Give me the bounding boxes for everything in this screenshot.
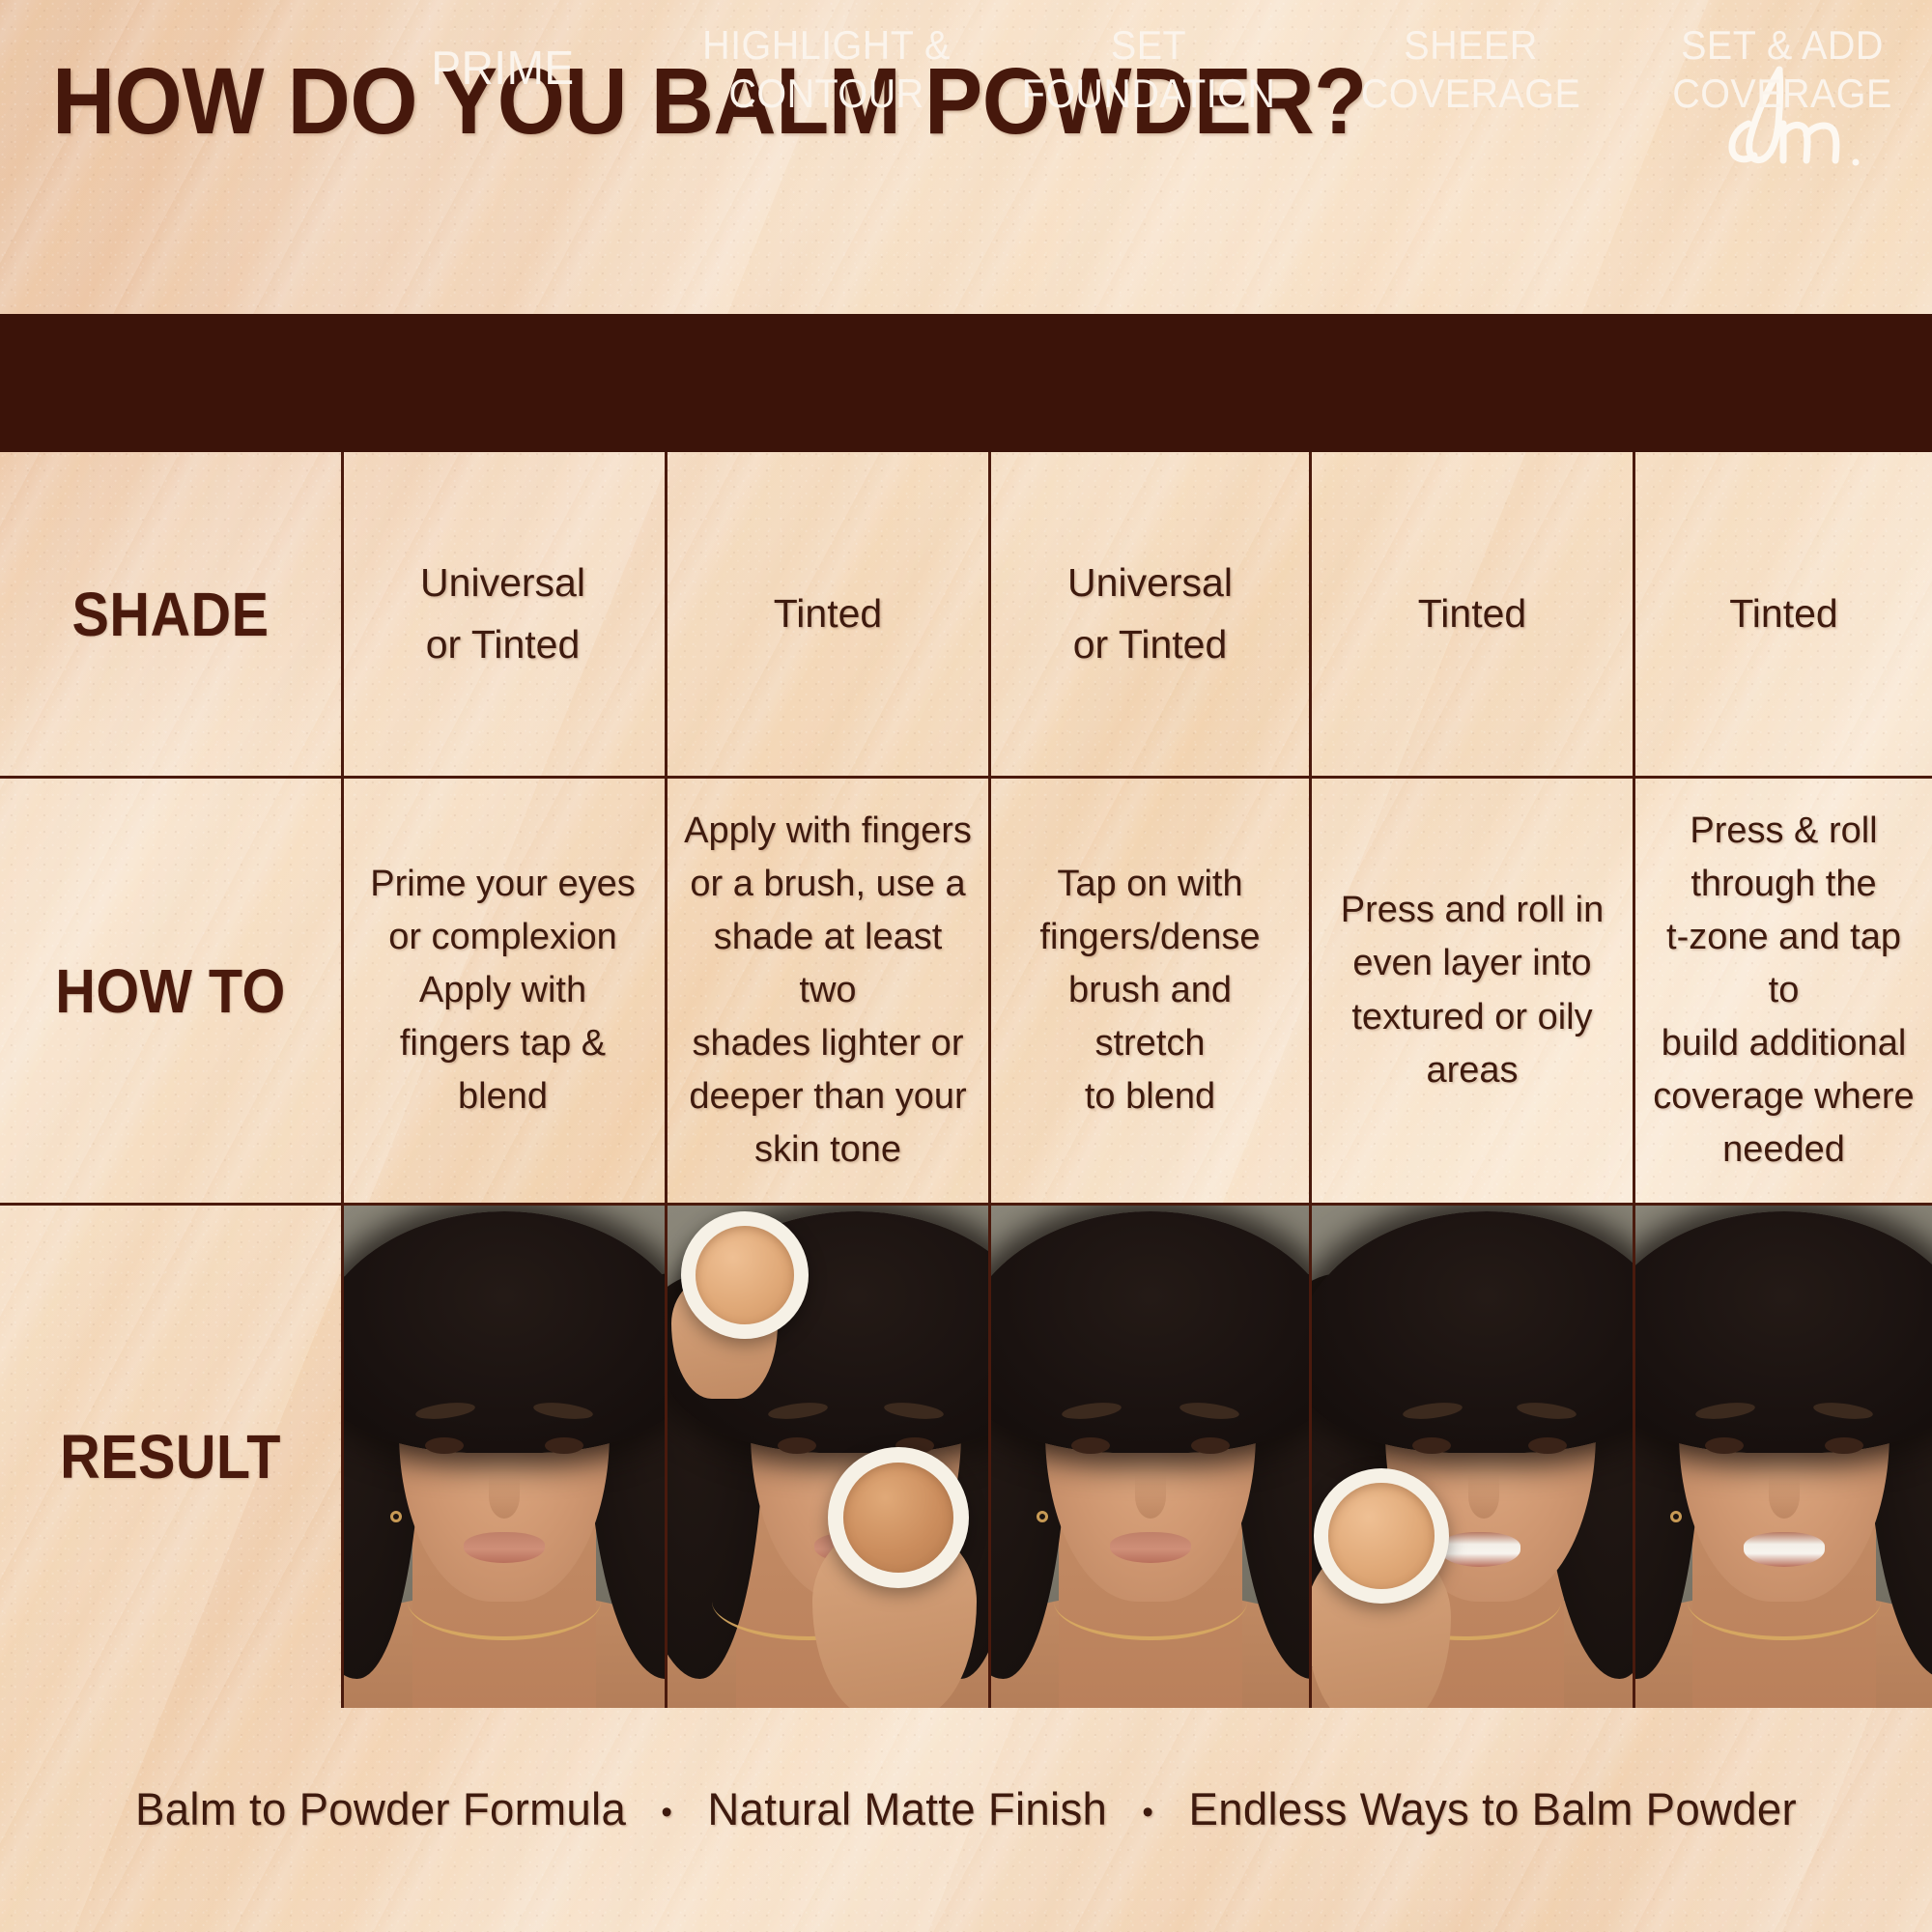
column-header-set-foundation-label: SETFOUNDATION: [1022, 21, 1276, 117]
cell-shade-highlight-contour-text: Tinted: [774, 583, 882, 645]
column-header-set-foundation: SETFOUNDATION: [998, 0, 1299, 138]
cell-howto-prime-text: Prime your eyes or complexion Apply with…: [370, 858, 636, 1123]
model-eye-right: [1528, 1437, 1567, 1454]
footer-item-2: Natural Matte Finish: [707, 1783, 1107, 1834]
cell-shade-set-add-coverage: Tinted: [1635, 452, 1932, 776]
model-lips: [1439, 1532, 1520, 1567]
footer-separator-1: •: [661, 1794, 672, 1832]
column-header-sheer-coverage: SHEERCOVERAGE: [1319, 0, 1623, 138]
model-earring-left: [390, 1511, 402, 1522]
cell-howto-set-add-coverage: Press & roll through the t-zone and tap …: [1635, 779, 1932, 1203]
model-eye-right: [545, 1437, 583, 1454]
model-hair: [1312, 1211, 1633, 1453]
table-header-bar: [0, 314, 1932, 452]
model-hair: [344, 1211, 665, 1453]
footer-tagline: Balm to Powder Formula • Natural Matte F…: [29, 1782, 1903, 1835]
model-eye-left: [425, 1437, 464, 1454]
model-nose: [1769, 1474, 1800, 1519]
product-balm-pan: [843, 1463, 953, 1573]
column-header-highlight-contour: HIGHLIGHT &CONTOUR: [674, 0, 979, 138]
column-header-sheer-coverage-label: SHEERCOVERAGE: [1361, 21, 1581, 117]
column-header-prime-label: PRIME: [431, 42, 574, 98]
product-compact-upper: [681, 1211, 809, 1339]
cell-howto-set-add-coverage-text: Press & roll through the t-zone and tap …: [1649, 805, 1918, 1178]
model-eye-right: [1191, 1437, 1230, 1454]
result-photo-prime: [344, 1206, 665, 1708]
cell-shade-set-foundation-text: Universal or Tinted: [1067, 553, 1233, 675]
column-header-set-add-coverage: SET & ADDCOVERAGE: [1641, 0, 1922, 138]
row-label-shade: SHADE: [17, 452, 325, 776]
model-eye-left: [1071, 1437, 1110, 1454]
result-photo-sheer-coverage: [1312, 1206, 1633, 1708]
cell-howto-set-foundation: Tap on with fingers/dense brush and stre…: [991, 779, 1309, 1203]
product-compact-lower: [828, 1447, 969, 1588]
model-nose: [1135, 1474, 1166, 1519]
cell-howto-highlight-contour-text: Apply with fingers or a brush, use a sha…: [681, 805, 975, 1178]
model-eye-left: [778, 1437, 816, 1454]
row-label-how-to: HOW TO: [17, 779, 325, 1203]
footer-separator-2: •: [1142, 1794, 1153, 1832]
cell-howto-prime: Prime your eyes or complexion Apply with…: [341, 779, 665, 1203]
cell-howto-sheer-coverage: Press and roll in even layer into textur…: [1312, 779, 1633, 1203]
cell-shade-prime: Universal or Tinted: [341, 452, 665, 776]
model-lips: [1744, 1532, 1825, 1567]
model-hair: [1635, 1211, 1932, 1453]
cell-shade-prime-text: Universal or Tinted: [420, 553, 585, 675]
cell-howto-sheer-coverage-text: Press and roll in even layer into textur…: [1341, 884, 1604, 1096]
cell-shade-sheer-coverage-text: Tinted: [1418, 583, 1526, 645]
product-compact: [1314, 1468, 1449, 1604]
model-nose: [489, 1474, 520, 1519]
model-lips: [464, 1532, 545, 1563]
cell-shade-highlight-contour: Tinted: [668, 452, 988, 776]
row-label-result: RESULT: [17, 1206, 325, 1708]
infographic-page: HOW DO YOU BALM POWDER? PRIME HIGHLIGHT …: [0, 0, 1932, 1932]
cell-shade-set-foundation: Universal or Tinted: [991, 452, 1309, 776]
result-photo-set-add-coverage: [1635, 1206, 1932, 1708]
model-eye-left: [1705, 1437, 1744, 1454]
column-header-highlight-contour-label: HIGHLIGHT &CONTOUR: [702, 21, 951, 117]
cell-shade-set-add-coverage-text: Tinted: [1729, 583, 1837, 645]
product-balm-pan: [1328, 1483, 1434, 1588]
result-photo-highlight-contour: [668, 1206, 988, 1708]
model-earring-left: [1670, 1511, 1682, 1522]
footer-item-3: Endless Ways to Balm Powder: [1189, 1783, 1797, 1834]
model-eye-left: [1412, 1437, 1451, 1454]
column-header-prime: PRIME: [351, 0, 655, 138]
model-eye-right: [1825, 1437, 1863, 1454]
model-lips: [1110, 1532, 1191, 1563]
footer-item-1: Balm to Powder Formula: [135, 1783, 626, 1834]
model-nose: [1468, 1474, 1499, 1519]
model-hair: [991, 1211, 1309, 1453]
column-header-set-add-coverage-label: SET & ADDCOVERAGE: [1672, 21, 1892, 117]
result-photo-set-foundation: [991, 1206, 1309, 1708]
cell-howto-highlight-contour: Apply with fingers or a brush, use a sha…: [668, 779, 988, 1203]
model-earring-left: [1037, 1511, 1048, 1522]
cell-howto-set-foundation-text: Tap on with fingers/dense brush and stre…: [1039, 858, 1260, 1123]
cell-shade-sheer-coverage: Tinted: [1312, 452, 1633, 776]
product-balm-pan: [696, 1226, 795, 1325]
